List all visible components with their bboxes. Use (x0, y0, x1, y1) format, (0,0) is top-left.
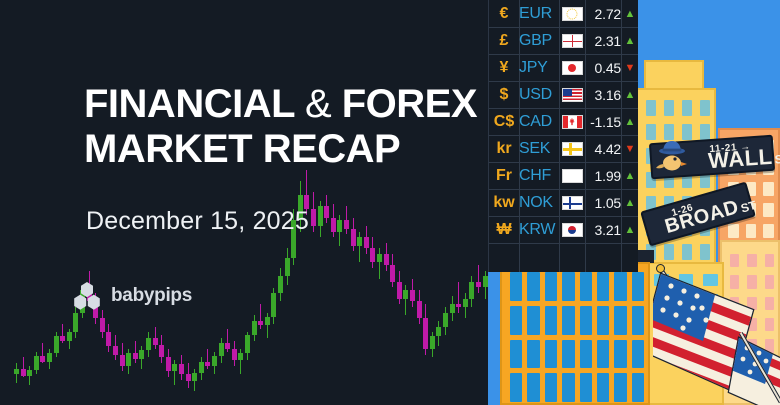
quote-value: 2.31 (585, 33, 621, 49)
currency-symbol: Fr (489, 167, 519, 185)
currency-quotes-table[interactable]: €EUR2.72▲£GBP2.31▲¥JPY0.45▼$USD3.16▲C$CA… (488, 0, 638, 272)
quote-row-nok[interactable]: kwNOK1.05▲ (489, 189, 639, 216)
flag-eu-icon (559, 7, 585, 21)
quote-row-usd[interactable]: $USD3.16▲ (489, 81, 639, 108)
currency-code: SEK (519, 140, 559, 158)
currency-symbol: kr (489, 140, 519, 158)
currency-code: NOK (519, 194, 559, 212)
recap-date: December 15, 2025 (86, 207, 309, 236)
currency-code: KRW (519, 221, 559, 239)
building-orange-front (500, 262, 650, 405)
currency-symbol: € (489, 5, 519, 23)
flag-ch-icon (559, 169, 585, 183)
flag-us-icon (559, 88, 585, 102)
quote-value: 1.05 (585, 195, 621, 211)
currency-symbol: C$ (489, 113, 519, 131)
currency-code: JPY (519, 59, 559, 77)
quote-value: 1.99 (585, 168, 621, 184)
trend-arrow-down-icon: ▼ (621, 143, 639, 155)
quote-row-gbp[interactable]: £GBP2.31▲ (489, 27, 639, 54)
currency-code: GBP (519, 32, 559, 50)
quote-row-jpy[interactable]: ¥JPY0.45▼ (489, 54, 639, 81)
babypips-wordmark: babypips (111, 285, 192, 307)
flag-kr-icon (559, 223, 585, 237)
currency-symbol: kw (489, 194, 519, 212)
quote-value: 3.16 (585, 87, 621, 103)
currency-code: CHF (519, 167, 559, 185)
quote-row-chf[interactable]: FrCHF1.99▲ (489, 162, 639, 189)
hero-text-block: FINANCIAL & FOREX MARKET RECAP December … (0, 0, 492, 405)
title-ampersand: & (305, 82, 331, 126)
flag-jp-icon (559, 61, 585, 75)
title-market-recap: MARKET RECAP (84, 127, 400, 171)
title-forex: FOREX (342, 82, 477, 126)
currency-symbol: $ (489, 86, 519, 104)
window-grid (510, 272, 644, 402)
sign-suffix: ST (774, 152, 780, 169)
trend-arrow-up-icon: ▲ (621, 89, 639, 101)
usa-flag-icon (653, 262, 780, 405)
currency-symbol: ¥ (489, 59, 519, 77)
quote-value: -1.15 (585, 114, 621, 130)
currency-symbol: £ (489, 32, 519, 50)
quote-value: 0.45 (585, 60, 621, 76)
currency-symbol: ₩ (489, 221, 519, 239)
babypips-logo[interactable]: babypips (72, 281, 192, 311)
flag-ca-icon (559, 115, 585, 129)
quote-row-eur[interactable]: €EUR2.72▲ (489, 0, 639, 27)
trend-arrow-up-icon: ▲ (621, 170, 639, 182)
trend-arrow-up-icon: ▲ (621, 224, 639, 236)
pigeon-with-fedora-icon (650, 137, 696, 177)
quote-row-sek[interactable]: krSEK4.42▼ (489, 135, 639, 162)
trend-arrow-down-icon: ▼ (621, 62, 639, 74)
usa-flags-group (653, 262, 780, 405)
trend-arrow-up-icon: ▲ (621, 8, 639, 20)
quote-value: 4.42 (585, 141, 621, 157)
currency-code: EUR (519, 5, 559, 23)
building-yellow-penthouse (644, 60, 704, 90)
flag-gb-icon (559, 34, 585, 48)
currency-code: CAD (519, 113, 559, 131)
currency-code: USD (519, 86, 559, 104)
quote-row-krw[interactable]: ₩KRW3.21▲ (489, 216, 639, 243)
three-hexagons-icon (72, 281, 102, 311)
flag-se-icon (559, 142, 585, 156)
quote-value: 2.72 (585, 6, 621, 22)
flag-no-icon (559, 196, 585, 210)
page-title: FINANCIAL & FOREX MARKET RECAP (84, 82, 484, 172)
quote-row-cad[interactable]: C$CAD-1.15▲ (489, 108, 639, 135)
trend-arrow-up-icon: ▲ (621, 197, 639, 209)
title-financial: FINANCIAL (84, 82, 294, 126)
trend-arrow-up-icon: ▲ (621, 35, 639, 47)
quote-value: 3.21 (585, 222, 621, 238)
trend-arrow-up-icon: ▲ (621, 116, 639, 128)
table-divider (489, 243, 638, 244)
recap-banner: FINANCIAL & FOREX MARKET RECAP December … (0, 0, 780, 405)
